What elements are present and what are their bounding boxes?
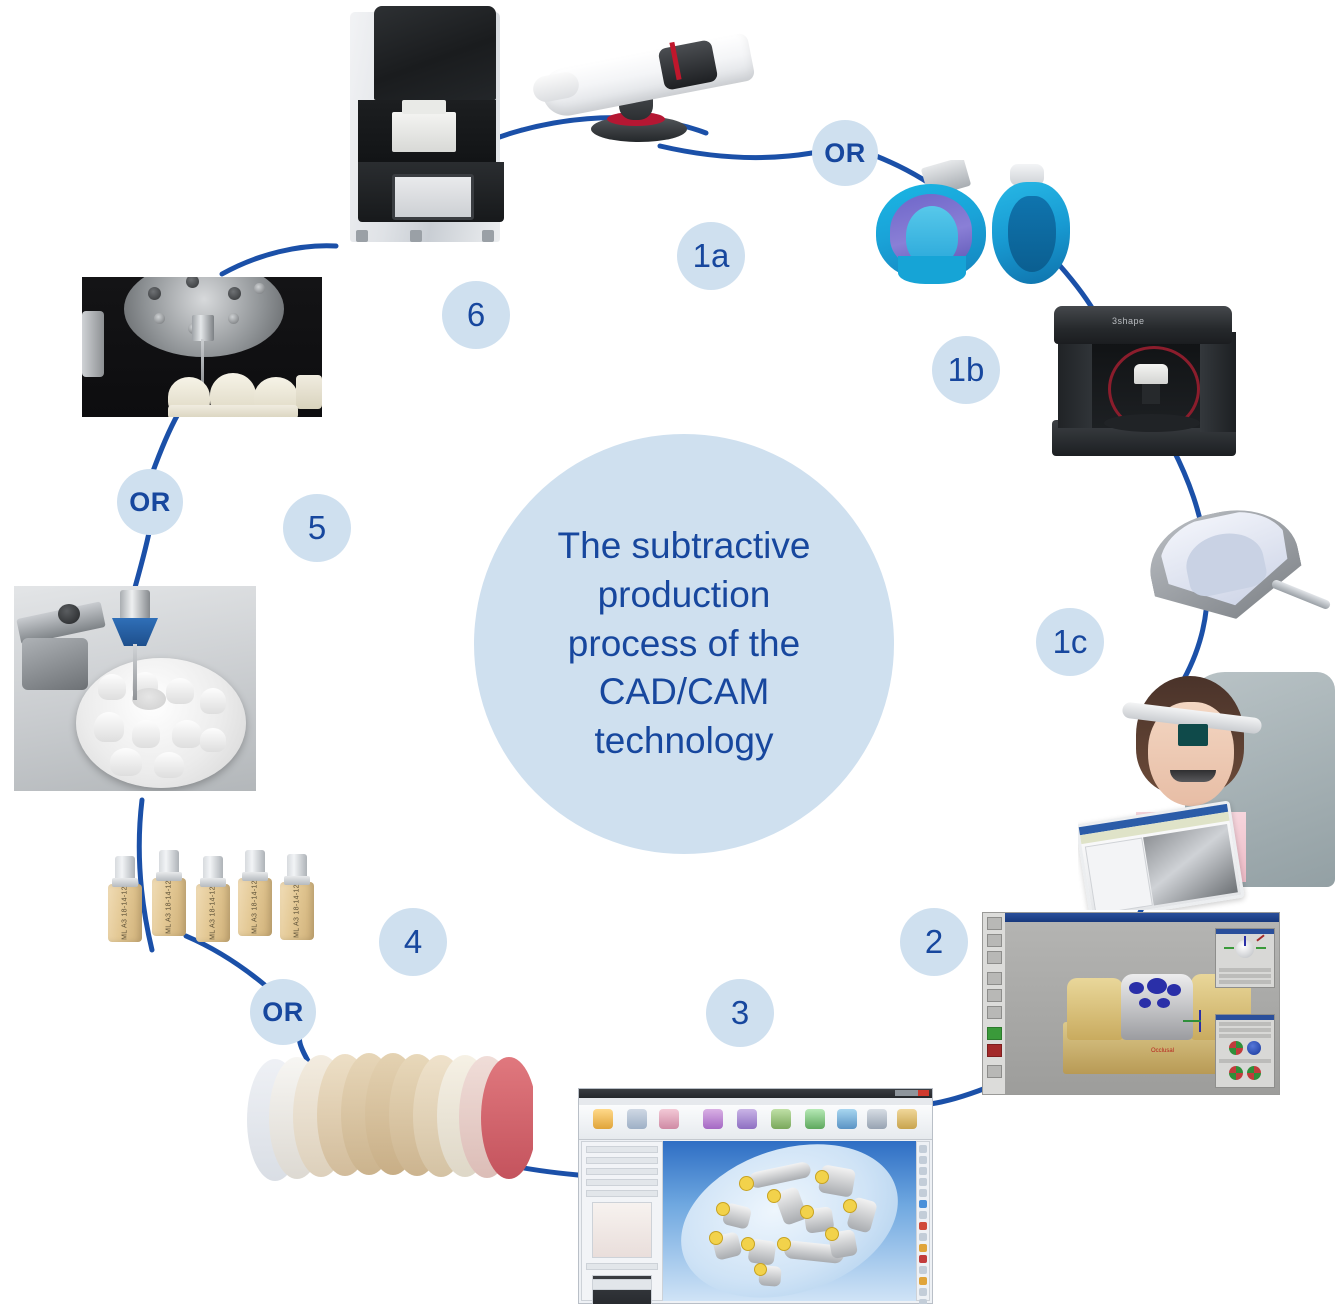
cad-window: Occlusal — [982, 912, 1280, 1095]
block-1: ML A3 18-14-12 — [108, 884, 142, 942]
labscanner-right-pillar — [1200, 332, 1236, 432]
bridge-connector-bar — [168, 405, 298, 417]
cam-right-toolbar[interactable] — [916, 1141, 930, 1301]
node-milling-disc: Milling unit cutting restorations from a… — [14, 586, 256, 791]
cad-nav-cube-panel[interactable] — [1215, 928, 1275, 988]
step-badge-3[interactable]: 3 — [706, 979, 774, 1047]
labscanner-model-holder — [1142, 382, 1160, 404]
arc-or-left-to-millingbridge — [152, 414, 178, 474]
cam-window — [578, 1088, 933, 1304]
cad-toolbar[interactable] — [983, 913, 1006, 1094]
hub-line-2: production — [519, 571, 849, 620]
patient-tablet — [1078, 800, 1245, 910]
bridge-milling-bur — [201, 339, 204, 387]
node-multilayer-discs: Stack of multilayer milling discs — [243, 1045, 533, 1190]
node-patient-facebow: Patient in dental chair wearing a digita… — [1078, 662, 1335, 910]
cad-3d-viewport[interactable]: Occlusal — [1005, 922, 1279, 1094]
labscanner-dental-model — [1134, 364, 1168, 384]
block-5: ML A3 18-14-12 — [280, 882, 314, 940]
center-hub-text: The subtractive production process of th… — [519, 522, 849, 766]
disc-cut-pocket — [132, 688, 166, 710]
cam-titlebar — [579, 1089, 932, 1098]
step-badge-1a[interactable]: 1a — [677, 222, 745, 290]
block-2: ML A3 18-14-12 — [152, 878, 186, 936]
block-4: ML A3 18-14-12 — [238, 878, 272, 936]
bridge-sprue — [296, 375, 322, 409]
block-label-3: ML A3 18-14-12 — [210, 886, 217, 940]
bridge-side-fixture — [82, 311, 104, 377]
arc-millingbridge-to-furnace — [222, 246, 336, 274]
block-label-1: ML A3 18-14-12 — [122, 886, 129, 940]
node-impression-trays: Blue and purple dental impressions in tr… — [872, 160, 1072, 305]
center-hub: The subtractive production process of th… — [474, 434, 894, 854]
milling-bur — [133, 644, 137, 700]
furnace-lid — [374, 6, 496, 100]
impression-lower — [990, 164, 1072, 289]
block-label-5: ML A3 18-14-12 — [294, 884, 301, 938]
hub-line-1: The subtractive — [519, 522, 849, 571]
node-bite-tray: Impression tray with set impression mate… — [1142, 498, 1332, 638]
milling-knob — [58, 604, 80, 624]
labscanner-left-pillar — [1058, 342, 1092, 428]
node-cad-software: Occlusal — [982, 912, 1280, 1095]
or-badge-top[interactable]: OR — [812, 120, 878, 186]
facebow-sensor — [1178, 724, 1208, 746]
milling-spindle — [120, 590, 150, 620]
labscanner-turntable — [1104, 414, 1200, 432]
cad-titlebar — [1005, 913, 1279, 922]
block-label-4: ML A3 18-14-12 — [252, 880, 259, 934]
bridge-spindle — [192, 315, 214, 341]
node-lab-scanner: 3shape Desktop laboratory 3D scanner — [1050, 302, 1240, 460]
step-badge-1b[interactable]: 1b — [932, 336, 1000, 404]
furnace-firing-tray — [392, 112, 456, 152]
cam-3d-viewport[interactable] — [663, 1141, 916, 1301]
block-label-2: ML A3 18-14-12 — [166, 880, 173, 934]
node-milling-bridge: Milling unit cutting a multi-unit bridge — [82, 277, 322, 417]
labscanner-brand-logo: 3shape — [1112, 316, 1145, 326]
cam-disc-thumbnail[interactable] — [592, 1202, 652, 1258]
step-badge-6[interactable]: 6 — [442, 281, 510, 349]
cad-neighbour-tooth-left — [1067, 978, 1123, 1040]
diagram-canvas: The subtractive production process of th… — [0, 0, 1335, 1304]
node-cam-nesting: CAM nesting software placing restoration… — [578, 1088, 933, 1304]
tablet-sidebar — [1085, 838, 1153, 910]
node-sintering-furnace: Sintering furnace with firing tray — [330, 2, 520, 252]
cam-ribbon[interactable] — [579, 1105, 932, 1140]
cad-tools-panel[interactable] — [1215, 1014, 1275, 1088]
impression-upper — [872, 168, 990, 288]
or-badge-left[interactable]: OR — [117, 469, 183, 535]
node-intraoral-scanner: Intraoral scanner on charging stand — [533, 28, 773, 158]
block-3: ML A3 18-14-12 — [196, 884, 230, 942]
tablet-3d-view — [1143, 824, 1238, 905]
furnace-touchscreen[interactable] — [392, 174, 474, 220]
arc-cad-to-cam — [930, 1088, 986, 1104]
cam-sidebar[interactable] — [581, 1141, 663, 1301]
cad-occlusal-marker: Occlusal — [1151, 1048, 1174, 1054]
step-badge-5[interactable]: 5 — [283, 494, 351, 562]
step-badge-2[interactable]: 2 — [900, 908, 968, 976]
hub-line-4: CAD/CAM — [519, 668, 849, 717]
step-badge-4[interactable]: 4 — [379, 908, 447, 976]
node-cadcam-blocks: ML A3 18-14-12 ML A3 18-14-12 ML A3 18-1… — [104, 834, 319, 964]
milling-clamp — [22, 638, 88, 690]
hub-line-5: technology — [519, 717, 849, 766]
patient-bite-fork — [1170, 770, 1216, 782]
or-badge-bottom[interactable]: OR — [250, 979, 316, 1045]
bite-tray-handle — [1271, 579, 1332, 611]
hub-line-3: process of the — [519, 620, 849, 669]
